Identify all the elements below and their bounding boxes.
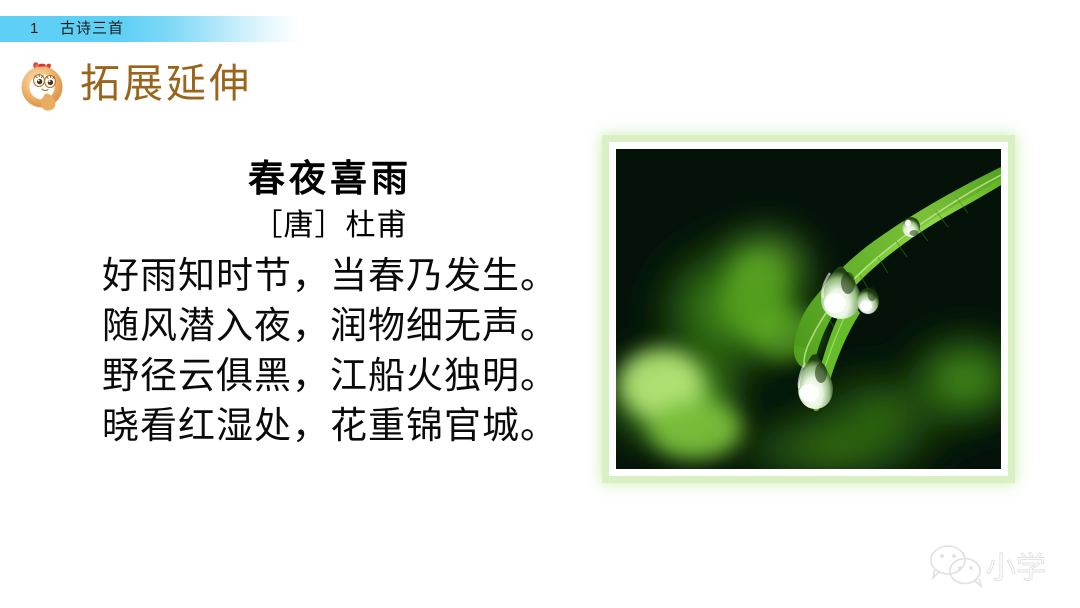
watermark-label: 小学 [986, 551, 1046, 586]
wechat-icon [931, 546, 981, 586]
raindrop-leaf-photo [616, 149, 1001, 469]
poem-line: 随风潜入夜，润物细无声。 [60, 301, 600, 351]
q-mascot-icon [16, 56, 72, 112]
photo-frame [609, 142, 1008, 476]
watermark: 小学 [920, 538, 1060, 594]
header-lesson-number: 1 [30, 17, 38, 41]
poem-author: ［唐］杜甫 [60, 207, 600, 245]
section-heading: 拓展延伸 [16, 56, 252, 112]
section-heading-label: 拓展延伸 [80, 61, 252, 107]
poem-lines: 好雨知时节，当春乃发生。 随风潜入夜，润物细无声。 野径云俱黑，江船火独明。 晓… [60, 251, 600, 451]
poem-line: 野径云俱黑，江船火独明。 [60, 351, 600, 401]
poem-line: 晓看红湿处，花重锦官城。 [60, 401, 600, 451]
poem-line: 好雨知时节，当春乃发生。 [60, 251, 600, 301]
poem-title: 春夜喜雨 [60, 155, 600, 203]
poem-block: 春夜喜雨 ［唐］杜甫 好雨知时节，当春乃发生。 随风潜入夜，润物细无声。 野径云… [60, 155, 600, 451]
header-lesson-title: 古诗三首 [60, 17, 124, 41]
